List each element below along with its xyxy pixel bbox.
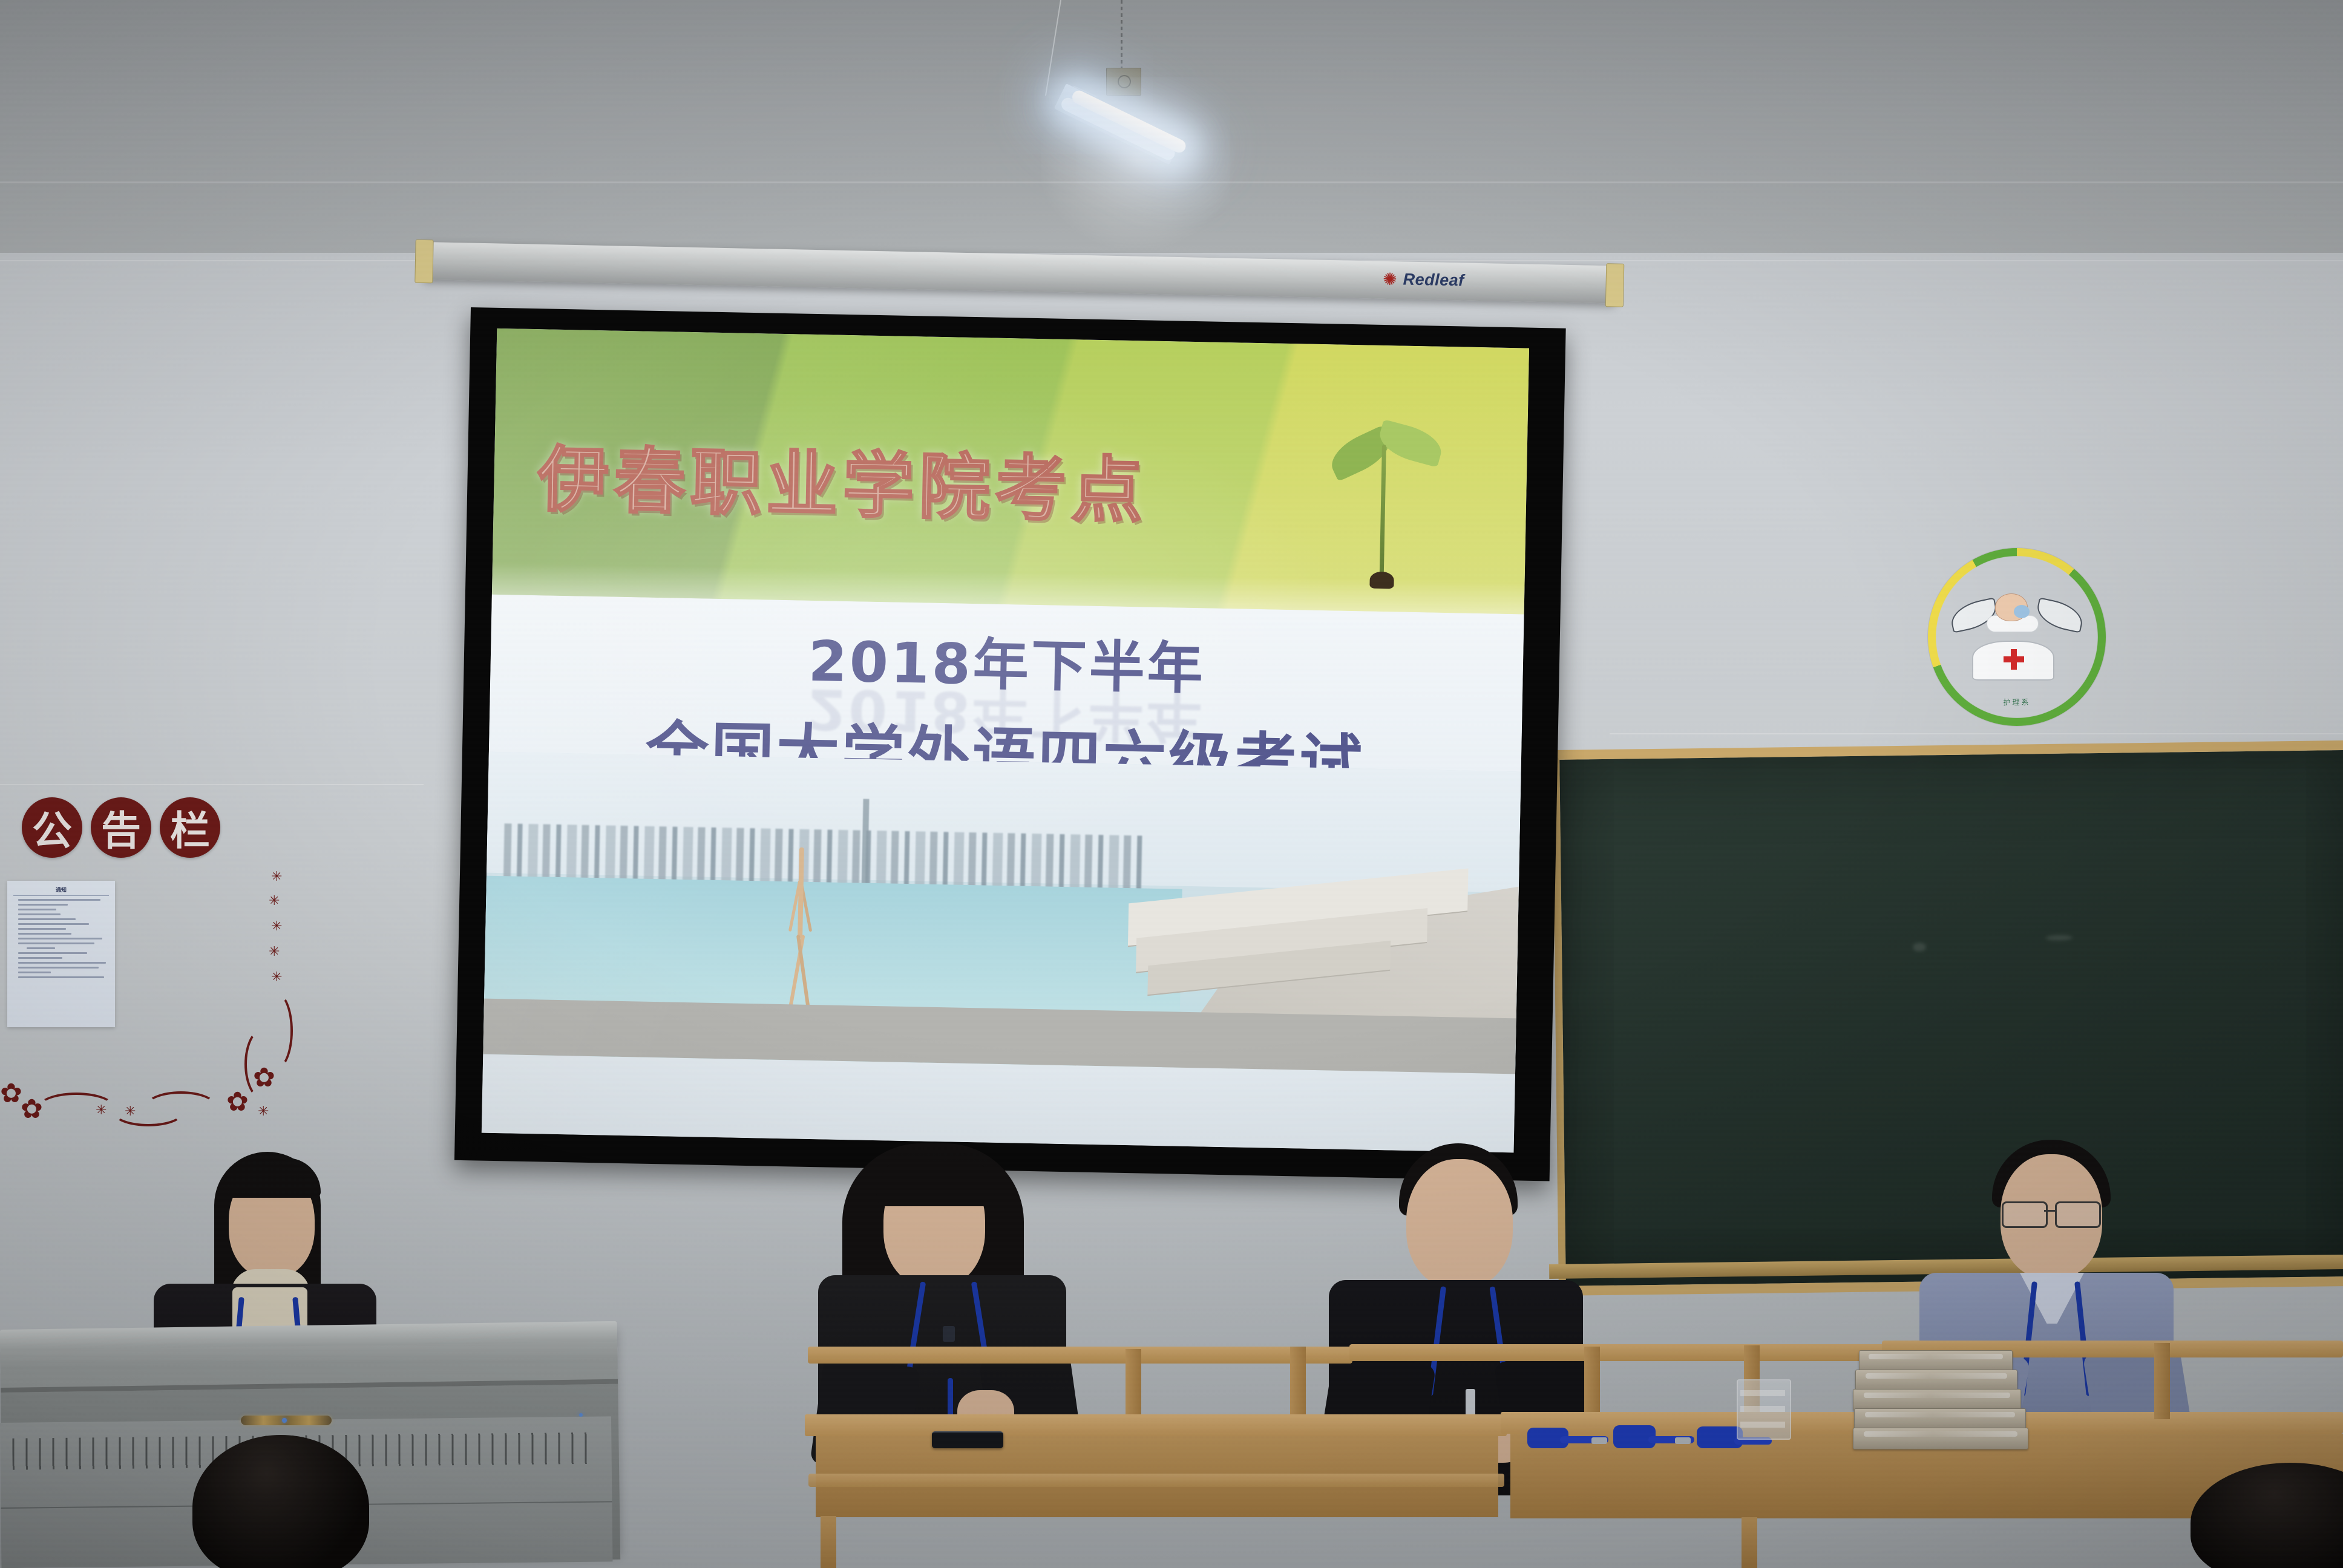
desk-top <box>805 1414 1507 1436</box>
smartphone-icon[interactable] <box>932 1431 1003 1448</box>
wall-seam-left <box>0 784 424 785</box>
lamp-chain <box>1121 0 1122 71</box>
nurse-cap-icon <box>1972 641 2054 681</box>
eyeglasses-icon <box>2002 1201 2048 1228</box>
bulletin-board-title: 公 告 栏 <box>22 797 220 858</box>
bench-post <box>2154 1343 2170 1419</box>
flower-decal-icon: ✿ <box>226 1089 249 1116</box>
flower-decal-icon: ✳ <box>271 970 282 984</box>
flower-decal-icon: ✳ <box>258 1105 269 1118</box>
eyeglasses-icon <box>2055 1201 2101 1228</box>
projection-screen[interactable]: 伊春职业学院考点 2018年下半年 2018年下半年 全国大学外语四六级考试 全… <box>454 307 1566 1181</box>
sealed-exam-paper-packets[interactable] <box>1853 1350 2034 1453</box>
angel-wing-icon <box>2034 597 2085 633</box>
bench-seat-rail <box>808 1474 1504 1487</box>
id-badge <box>943 1326 955 1342</box>
flower-decal-icon: ✿ <box>0 1080 22 1107</box>
flower-decal-icon: ✳ <box>96 1103 106 1117</box>
notice-rule <box>13 895 109 896</box>
projected-slide: 伊春职业学院考点 2018年下半年 2018年下半年 全国大学外语四六级考试 全… <box>482 328 1529 1153</box>
sprout-plant-icon <box>1337 413 1437 596</box>
exam-packet <box>1853 1428 2028 1449</box>
baby-icon <box>1995 593 2028 621</box>
casing-end-cap <box>1605 263 1624 307</box>
bench-backrail <box>808 1347 1352 1364</box>
screen-brand: ✺ Redleaf <box>1383 270 1464 290</box>
flower-decal-icon: ✳ <box>269 894 280 907</box>
flower-decal-icon: ✳ <box>271 920 282 933</box>
walking-figure <box>780 847 820 1023</box>
bulletin-title-char: 栏 <box>160 797 220 858</box>
slide-header-title: 伊春职业学院考点 <box>537 421 1149 536</box>
exam-packet <box>1855 1370 2017 1391</box>
exam-packet <box>1859 1350 2013 1372</box>
exam-packet <box>1853 1389 2021 1411</box>
classroom-scene: 公 告 栏 通知 ✳ ✳ ✳ ✳ ✳ ✿ ✿ ✿ ✿ ✳ ✳ ✳ <box>0 0 2343 1568</box>
exam-packet <box>1854 1408 2026 1430</box>
vine-decal-icon <box>145 1091 217 1122</box>
cup-icon[interactable] <box>1737 1379 1791 1440</box>
bench-backrail <box>1349 1344 1894 1361</box>
screen-brand-name: Redleaf <box>1403 270 1464 290</box>
face <box>1406 1159 1513 1289</box>
notice-heading: 通知 <box>13 886 109 893</box>
bulletin-title-char: 公 <box>22 797 82 858</box>
posted-notice-sheet: 通知 <box>7 881 115 1027</box>
red-cross-icon <box>2004 656 2024 662</box>
desk-leg <box>1742 1517 1757 1568</box>
hair-clip-icon <box>241 1416 332 1425</box>
lamp-wire <box>1045 0 1061 96</box>
flower-decal-icon: ✳ <box>125 1105 136 1118</box>
red-leaf-icon: ✺ <box>1383 270 1397 287</box>
flower-decal-icon: ✳ <box>271 870 282 883</box>
flower-decal-icon: ✿ <box>253 1065 275 1091</box>
slide-header-band: 伊春职业学院考点 <box>492 328 1529 615</box>
desk-leg <box>821 1516 836 1568</box>
casing-end-cap <box>415 240 433 284</box>
hair-fringe <box>223 1158 321 1198</box>
flower-decal-icon: ✳ <box>269 945 280 958</box>
nursing-department-emblem: 护理系 <box>1928 548 2106 726</box>
lamp-bracket <box>1106 68 1141 96</box>
bulletin-title-char: 告 <box>91 797 151 858</box>
wall-seam-right <box>1610 733 2343 734</box>
eyeglasses-bridge <box>2044 1210 2055 1212</box>
ceiling-lamp <box>1029 0 1259 260</box>
emblem-label: 护理系 <box>1936 697 2098 707</box>
slide-photo-waterfront <box>483 752 1521 1074</box>
